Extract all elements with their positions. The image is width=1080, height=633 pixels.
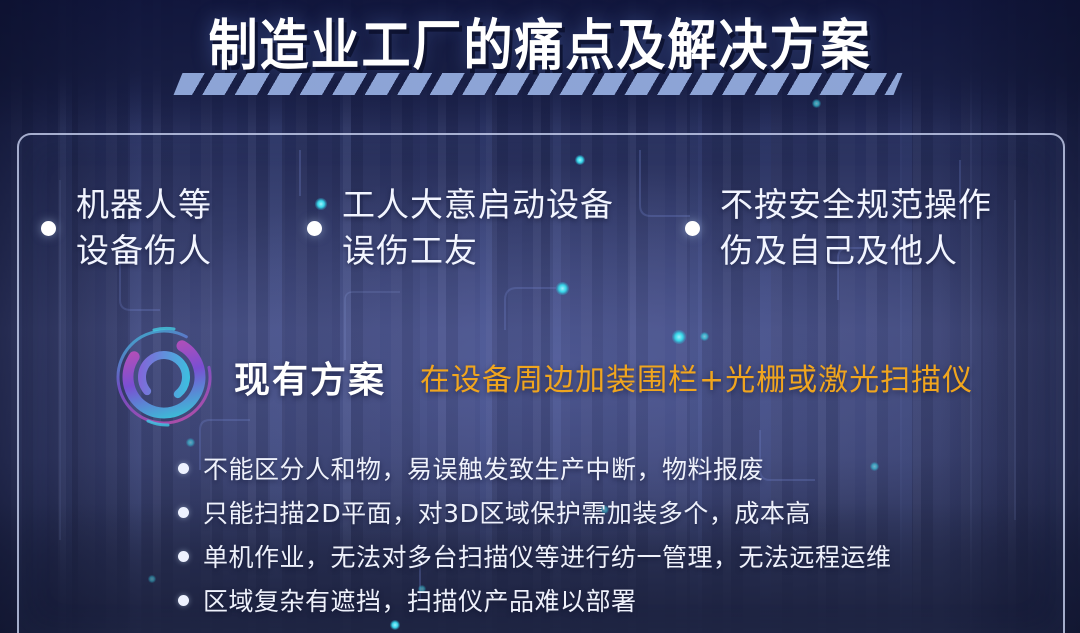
list-item: 不能区分人和物，易误触发致生产中断，物料报废	[178, 446, 892, 490]
bullet-dot-icon	[685, 221, 700, 236]
solution-header-row: 现有方案 在设备周边加装围栏+光栅或激光扫描仪	[112, 325, 973, 429]
solution-title: 现有方案	[234, 351, 386, 403]
bullet-dot-icon	[41, 221, 56, 236]
page-title: 制造业工厂的痛点及解决方案	[208, 2, 871, 82]
list-item-text: 单机作业，无法对多台扫描仪等进行纺一管理，无法远程运维	[203, 538, 892, 574]
problem-item: 工人大意启动设备 误伤工友	[307, 182, 614, 274]
list-item: 区域复杂有遮挡，扫描仪产品难以部署	[178, 578, 892, 622]
problem-item: 不按安全规范操作 伤及自己及他人	[685, 182, 992, 274]
problem-list: 机器人等 设备伤人 工人大意启动设备 误伤工友 不按安全规范操作 伤及自己及他人	[17, 176, 1061, 286]
title-underline-stripes	[174, 73, 903, 95]
bullet-dot-icon	[178, 595, 189, 606]
bullet-dot-icon	[178, 507, 189, 518]
list-item-text: 只能扫描2D平面，对3D区域保护需加装多个，成本高	[203, 494, 811, 530]
problem-item: 机器人等 设备伤人	[41, 182, 212, 274]
concentric-rings-icon	[112, 325, 216, 429]
list-item-text: 不能区分人和物，易误触发致生产中断，物料报废	[203, 450, 764, 486]
problem-item-text: 不按安全规范操作 伤及自己及他人	[720, 182, 992, 274]
poster-canvas: 制造业工厂的痛点及解决方案 机器人等 设备伤人 工人大意启动设备 误伤工友 不按…	[0, 0, 1080, 633]
title-block: 制造业工厂的痛点及解决方案	[0, 6, 1080, 77]
problem-item-text: 工人大意启动设备 误伤工友	[342, 182, 614, 274]
pain-point-list: 不能区分人和物，易误触发致生产中断，物料报废 只能扫描2D平面，对3D区域保护需…	[178, 446, 892, 622]
bullet-dot-icon	[178, 463, 189, 474]
solution-description: 在设备周边加装围栏+光栅或激光扫描仪	[420, 355, 973, 399]
problem-item-text: 机器人等 设备伤人	[76, 182, 212, 274]
list-item: 只能扫描2D平面，对3D区域保护需加装多个，成本高	[178, 490, 892, 534]
bullet-dot-icon	[307, 221, 322, 236]
list-item-text: 区域复杂有遮挡，扫描仪产品难以部署	[203, 582, 637, 618]
list-item: 单机作业，无法对多台扫描仪等进行纺一管理，无法远程运维	[178, 534, 892, 578]
bullet-dot-icon	[178, 551, 189, 562]
